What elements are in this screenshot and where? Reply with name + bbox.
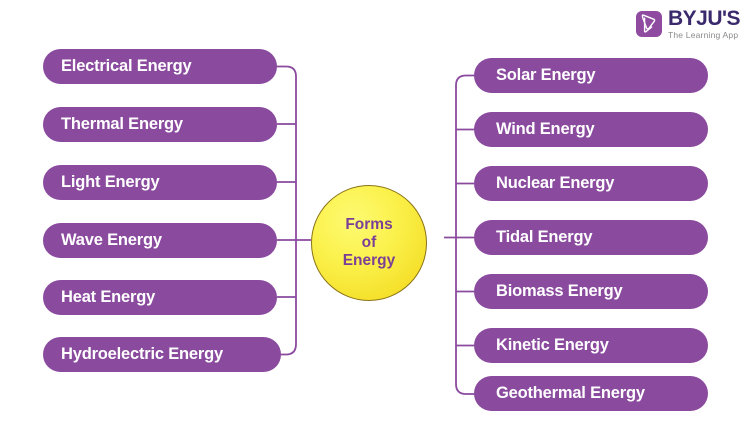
center-node-label: FormsofEnergy <box>337 216 402 271</box>
node-nuclear-energy[interactable]: Nuclear Energy <box>474 166 708 201</box>
node-light-energy[interactable]: Light Energy <box>43 165 277 200</box>
node-label: Hydroelectric Energy <box>61 345 223 364</box>
node-geothermal-energy[interactable]: Geothermal Energy <box>474 376 708 411</box>
node-label: Geothermal Energy <box>496 384 645 403</box>
node-thermal-energy[interactable]: Thermal Energy <box>43 107 277 142</box>
node-label: Solar Energy <box>496 66 595 85</box>
node-kinetic-energy[interactable]: Kinetic Energy <box>474 328 708 363</box>
node-electrical-energy[interactable]: Electrical Energy <box>43 49 277 84</box>
node-label: Kinetic Energy <box>496 336 609 355</box>
node-label: Biomass Energy <box>496 282 623 301</box>
diagram-canvas: BYJU'S The Learning App Electrical Energ… <box>0 0 750 442</box>
node-solar-energy[interactable]: Solar Energy <box>474 58 708 93</box>
left-spine <box>268 67 296 355</box>
center-node-forms-of-energy[interactable]: FormsofEnergy <box>311 185 427 301</box>
node-label: Tidal Energy <box>496 228 592 247</box>
node-biomass-energy[interactable]: Biomass Energy <box>474 274 708 309</box>
node-tidal-energy[interactable]: Tidal Energy <box>474 220 708 255</box>
node-label: Electrical Energy <box>61 57 192 76</box>
node-heat-energy[interactable]: Heat Energy <box>43 280 277 315</box>
node-label: Light Energy <box>61 173 159 192</box>
node-wave-energy[interactable]: Wave Energy <box>43 223 277 258</box>
node-label: Heat Energy <box>61 288 155 307</box>
node-label: Wind Energy <box>496 120 595 139</box>
node-label: Thermal Energy <box>61 115 183 134</box>
node-label: Nuclear Energy <box>496 174 614 193</box>
node-wind-energy[interactable]: Wind Energy <box>474 112 708 147</box>
node-hydroelectric-energy[interactable]: Hydroelectric Energy <box>43 337 281 372</box>
node-label: Wave Energy <box>61 231 162 250</box>
